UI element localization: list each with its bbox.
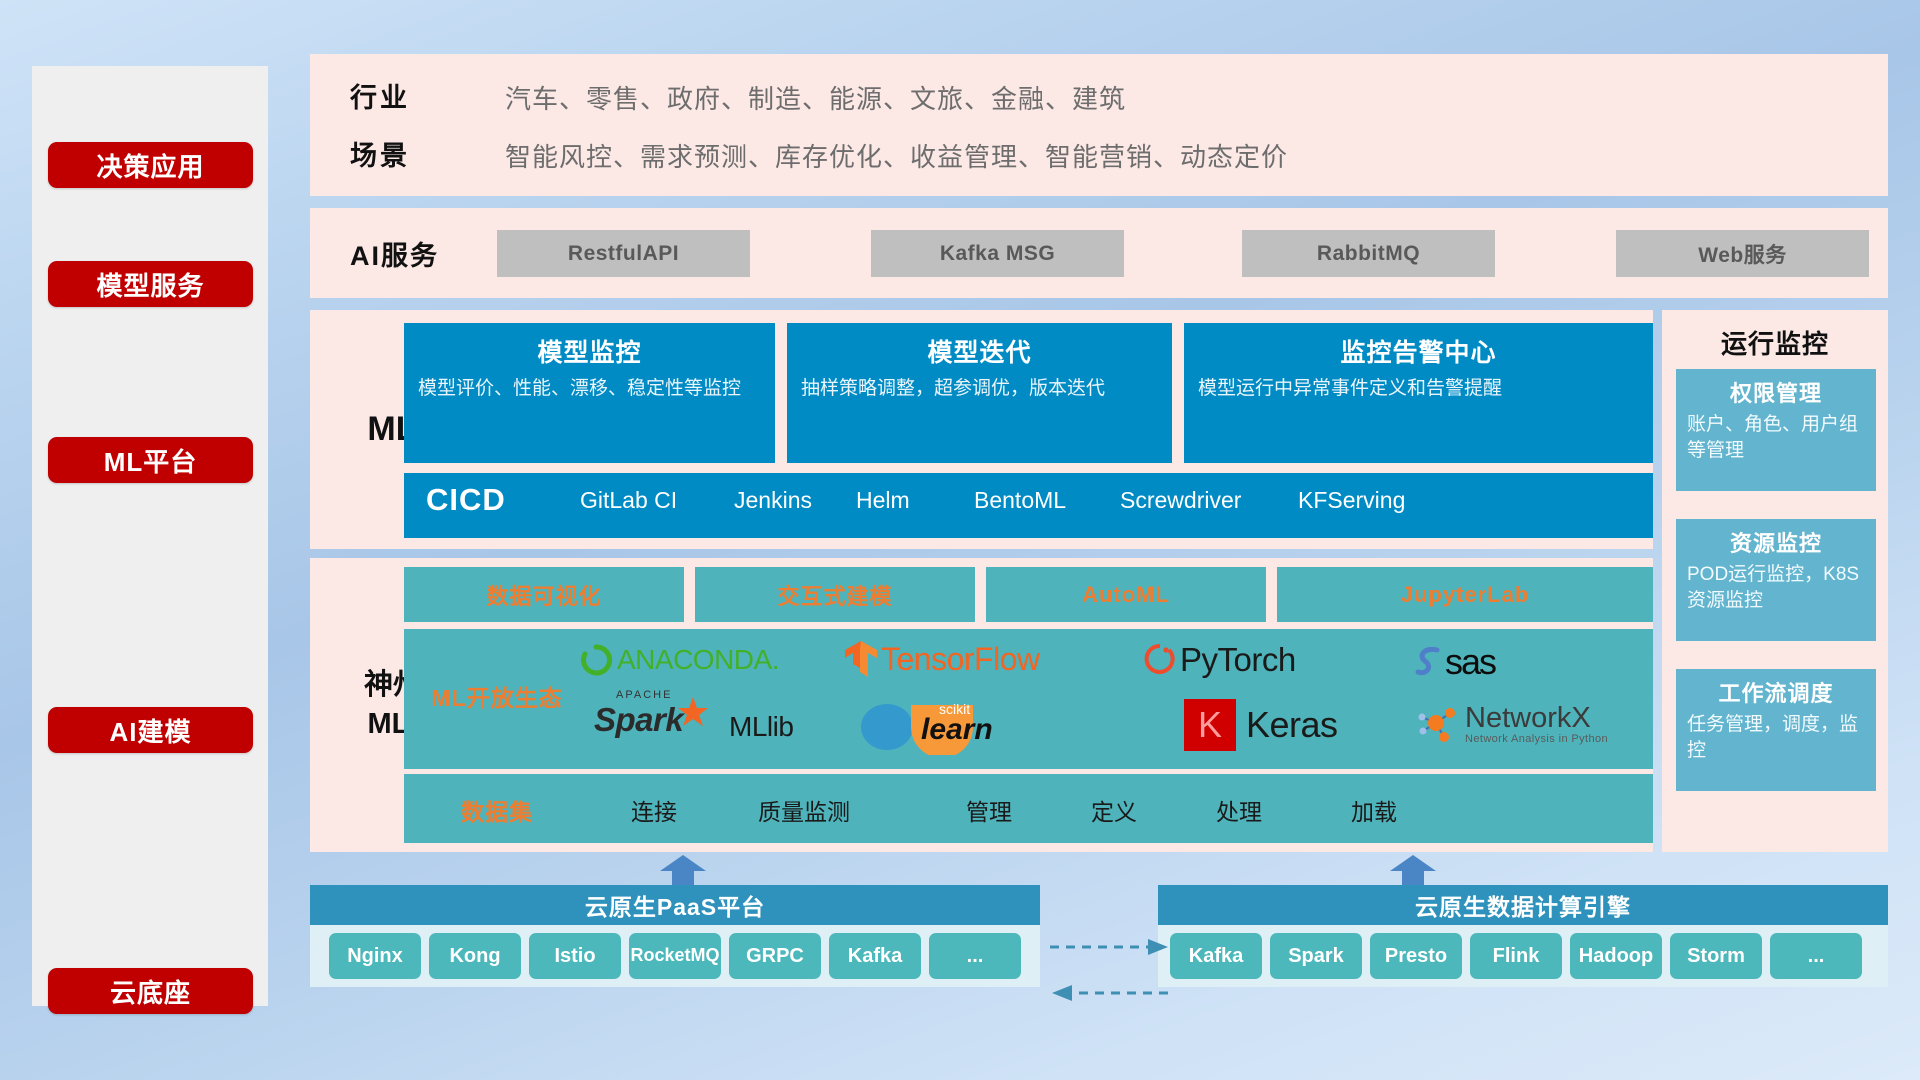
keras-icon: K <box>1184 699 1236 751</box>
service-chip-label: Kafka MSG <box>940 242 1055 266</box>
sas-logo: sas <box>1414 641 1495 683</box>
cloud-data-engine-group: 云原生数据计算引擎 Kafka Spark Presto Flink Hadoo… <box>1158 855 1888 1000</box>
keras-wordmark: Keras <box>1246 704 1338 746</box>
sas-icon <box>1414 644 1444 680</box>
networkx-wordmark: NetworkX <box>1465 704 1608 733</box>
stack-layer-rail: 决策应用 模型服务 ML平台 AI建模 云底座 <box>32 66 268 1006</box>
cicd-item-jenkins[interactable]: Jenkins <box>734 486 826 515</box>
card-desc: 模型评价、性能、漂移、稳定性等监控 <box>418 376 761 403</box>
dataset-item-process[interactable]: 处理 <box>1179 793 1299 827</box>
engine-chip-presto[interactable]: Presto <box>1370 933 1462 979</box>
card-desc: 抽样策略调整，超参调优，版本迭代 <box>801 376 1158 403</box>
rail-item-label: AI建模 <box>109 712 191 749</box>
industry-key: 行业 <box>350 76 470 115</box>
card-desc: 任务管理，调度，监控 <box>1687 712 1865 764</box>
engine-chip-hadoop[interactable]: Hadoop <box>1570 933 1662 979</box>
rail-item-ai-modeling[interactable]: AI建模 <box>48 707 253 753</box>
chip-label: ... <box>1808 945 1825 967</box>
ml-lab-panel: 神州数码 ML LAB 数据可视化 交互式建模 AutoML JupyterLa… <box>310 558 1653 852</box>
engine-chip-storm[interactable]: Storm <box>1670 933 1762 979</box>
card-title: 模型监控 <box>418 333 761 369</box>
service-chip-label: Web服务 <box>1698 239 1786 269</box>
rail-item-label: 决策应用 <box>96 147 204 184</box>
cloud-paas-tray: Nginx Kong Istio RocketMQ GRPC Kafka ... <box>310 925 1040 987</box>
service-chip-rabbitmq[interactable]: RabbitMQ <box>1242 230 1495 277</box>
dataset-item-connect[interactable]: 连接 <box>594 793 714 827</box>
dataset-item-quality[interactable]: 质量监测 <box>744 793 864 827</box>
service-chip-label: RestfulAPI <box>568 242 679 266</box>
pytorch-logo: PyTorch <box>1144 641 1296 679</box>
chip-label: Nginx <box>347 945 403 967</box>
rail-item-model-service[interactable]: 模型服务 <box>48 261 253 307</box>
paas-chip-more[interactable]: ... <box>929 933 1021 979</box>
cicd-item-screwdriver[interactable]: Screwdriver <box>1120 486 1262 515</box>
cicd-item-helm[interactable]: Helm <box>856 486 974 515</box>
runtime-monitoring-panel: 运行监控 权限管理 账户、角色、用户组等管理 资源监控 POD运行监控，K8S资… <box>1662 310 1888 852</box>
cicd-item-gitlab[interactable]: GitLab CI <box>580 486 698 515</box>
cicd-title: CICD <box>426 482 506 518</box>
card-title: 监控告警中心 <box>1198 333 1639 369</box>
service-chip-kafka-msg[interactable]: Kafka MSG <box>871 230 1124 277</box>
dataset-item-load[interactable]: 加载 <box>1314 793 1434 827</box>
rail-item-ml-platform[interactable]: ML平台 <box>48 437 253 483</box>
chip-label: Flink <box>1493 945 1540 967</box>
spark-star-icon <box>677 696 709 728</box>
cloud-engine-tray: Kafka Spark Presto Flink Hadoop Storm ..… <box>1158 925 1888 987</box>
card-desc: 账户、角色、用户组等管理 <box>1687 412 1865 464</box>
monitoring-title: 运行监控 <box>1662 324 1888 361</box>
spark-apache-label: APACHE <box>616 689 672 701</box>
cicd-bar: CICD GitLab CI Jenkins Helm BentoML Scre… <box>404 473 1653 538</box>
rail-item-label: 模型服务 <box>96 266 204 303</box>
lab-chip-label: JupyterLab <box>1401 582 1530 608</box>
ai-service-label: AI服务 <box>350 208 439 298</box>
applications-panel: 行业 汽车、零售、政府、制造、能源、文旅、金融、建筑 场景 智能风控、需求预测、… <box>310 54 1888 196</box>
ml-ecosystem-label: ML开放生态 <box>422 679 572 713</box>
cicd-item-bentoml[interactable]: BentoML <box>974 486 1086 515</box>
service-chip-label: RabbitMQ <box>1317 242 1420 266</box>
anaconda-logo: ANACONDA. <box>579 643 779 677</box>
rail-item-decision[interactable]: 决策应用 <box>48 142 253 188</box>
chip-label: RocketMQ <box>631 946 720 966</box>
mlops-card-model-monitoring[interactable]: 模型监控 模型评价、性能、漂移、稳定性等监控 <box>404 323 775 463</box>
lab-chip-label: AutoML <box>1082 582 1170 608</box>
cloud-engine-title: 云原生数据计算引擎 <box>1158 885 1888 925</box>
paas-chip-istio[interactable]: Istio <box>529 933 621 979</box>
pytorch-wordmark: PyTorch <box>1180 641 1296 679</box>
engine-chip-more[interactable]: ... <box>1770 933 1862 979</box>
engine-chip-kafka[interactable]: Kafka <box>1170 933 1262 979</box>
card-title: 资源监控 <box>1687 526 1865 558</box>
service-chip-restfulapi[interactable]: RestfulAPI <box>497 230 750 277</box>
cloud-paas-title: 云原生PaaS平台 <box>310 885 1040 925</box>
keras-logo: K Keras <box>1184 699 1338 751</box>
paas-chip-rocketmq[interactable]: RocketMQ <box>629 933 721 979</box>
anaconda-wordmark: ANACONDA. <box>617 644 779 676</box>
lab-chip-automl[interactable]: AutoML <box>986 567 1266 622</box>
card-title: 模型迭代 <box>801 333 1158 369</box>
chip-label: Spark <box>1288 945 1344 967</box>
lab-chip-label: 交互式建模 <box>777 579 892 611</box>
mllib-wordmark: MLlib <box>729 711 793 743</box>
dataset-label: 数据集 <box>422 793 572 827</box>
chip-label: Kafka <box>848 945 902 967</box>
monitor-card-workflow[interactable]: 工作流调度 任务管理，调度，监控 <box>1676 669 1876 791</box>
rail-item-label: 云底座 <box>110 973 191 1010</box>
up-arrow-icon <box>660 855 706 887</box>
chip-label: Kong <box>449 945 500 967</box>
paas-chip-nginx[interactable]: Nginx <box>329 933 421 979</box>
paas-chip-grpc[interactable]: GRPC <box>729 933 821 979</box>
paas-chip-kafka[interactable]: Kafka <box>829 933 921 979</box>
chip-label: ... <box>967 945 984 967</box>
mlops-panel: MLOps 模型监控 模型评价、性能、漂移、稳定性等监控 模型迭代 抽样策略调整… <box>310 310 1653 549</box>
networkx-tagline: Network Analysis in Python <box>1465 733 1608 745</box>
rail-item-cloud-base[interactable]: 云底座 <box>48 968 253 1014</box>
card-desc: POD运行监控，K8S资源监控 <box>1687 562 1865 614</box>
tensorflow-wordmark: TensorFlow <box>881 641 1040 678</box>
chip-label: Hadoop <box>1579 945 1653 967</box>
tensorflow-logo: TensorFlow <box>844 639 1040 679</box>
cicd-item-kfserving[interactable]: KFServing <box>1298 486 1430 515</box>
card-title: 工作流调度 <box>1687 676 1865 708</box>
ml-ecosystem-box: ML开放生态 ANACONDA. TensorFlow PyTorch <box>404 629 1653 769</box>
lab-chip-interactive-modeling[interactable]: 交互式建模 <box>695 567 975 622</box>
lab-chip-data-visualization[interactable]: 数据可视化 <box>404 567 684 622</box>
networkx-icon <box>1414 701 1460 747</box>
scenario-value: 智能风控、需求预测、库存优化、收益管理、智能营销、动态定价 <box>505 137 1288 174</box>
lab-chip-label: 数据可视化 <box>486 579 601 611</box>
engine-chip-flink[interactable]: Flink <box>1470 933 1562 979</box>
chip-label: Presto <box>1385 945 1447 967</box>
card-desc: 模型运行中异常事件定义和告警提醒 <box>1198 376 1639 403</box>
card-title: 权限管理 <box>1687 376 1865 408</box>
mlops-card-model-iteration[interactable]: 模型迭代 抽样策略调整，超参调优，版本迭代 <box>787 323 1172 463</box>
learn-wordmark: learn <box>921 713 993 747</box>
anaconda-icon <box>579 643 613 677</box>
service-chip-web[interactable]: Web服务 <box>1616 230 1869 277</box>
dataset-item-define[interactable]: 定义 <box>1054 793 1174 827</box>
dataset-box: 数据集 连接 质量监测 管理 定义 处理 加载 <box>404 774 1653 843</box>
up-arrow-icon <box>1390 855 1436 887</box>
chip-label: GRPC <box>746 945 804 967</box>
dashed-arrow-right-icon <box>1050 935 1170 1015</box>
ai-service-panel: AI服务 RestfulAPI Kafka MSG RabbitMQ Web服务 <box>310 208 1888 298</box>
monitor-card-resource[interactable]: 资源监控 POD运行监控，K8S资源监控 <box>1676 519 1876 641</box>
cloud-paas-group: 云原生PaaS平台 Nginx Kong Istio RocketMQ GRPC… <box>310 855 1040 1000</box>
dataset-item-manage[interactable]: 管理 <box>929 793 1049 827</box>
sas-wordmark: sas <box>1445 641 1495 683</box>
chip-label: Istio <box>554 945 595 967</box>
monitor-card-permission[interactable]: 权限管理 账户、角色、用户组等管理 <box>1676 369 1876 491</box>
pytorch-icon <box>1144 642 1176 678</box>
networkx-logo: NetworkX Network Analysis in Python <box>1414 701 1608 747</box>
lab-chip-jupyterlab[interactable]: JupyterLab <box>1277 567 1653 622</box>
scikit-learn-logo: scikit learn <box>859 699 1009 755</box>
spark-logo: APACHE Spark <box>594 701 709 739</box>
tensorflow-icon <box>844 639 878 679</box>
chip-label: Kafka <box>1189 945 1243 967</box>
mlops-card-alert-center[interactable]: 监控告警中心 模型运行中异常事件定义和告警提醒 <box>1184 323 1653 463</box>
industry-value: 汽车、零售、政府、制造、能源、文旅、金融、建筑 <box>505 79 1126 116</box>
scenario-key: 场景 <box>350 134 470 173</box>
chip-label: Storm <box>1687 945 1745 967</box>
rail-item-label: ML平台 <box>104 442 198 479</box>
paas-chip-kong[interactable]: Kong <box>429 933 521 979</box>
engine-chip-spark[interactable]: Spark <box>1270 933 1362 979</box>
spark-wordmark: Spark <box>594 701 683 739</box>
